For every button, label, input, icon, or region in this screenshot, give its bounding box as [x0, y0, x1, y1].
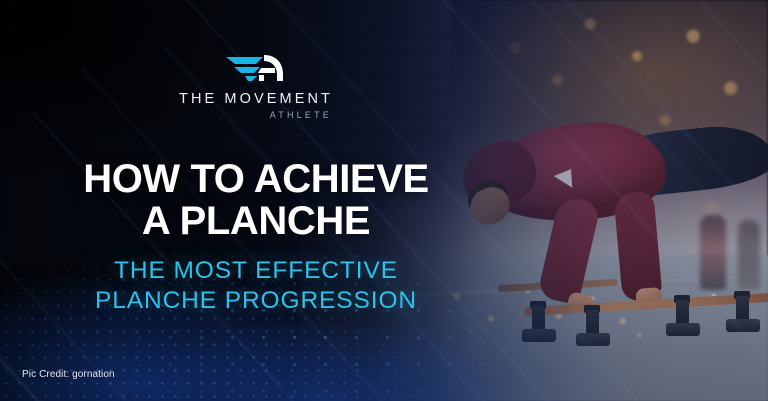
headline-line-1: HOW TO ACHIEVE	[0, 158, 512, 200]
subheadline-block: THE MOST EFFECTIVE PLANCHE PROGRESSION	[0, 256, 512, 317]
brand-logo[interactable]: THE MOVEMENT ATHLETE	[0, 48, 512, 120]
photo-credit: Pic Credit: gornation	[22, 369, 115, 380]
movement-athlete-wing-mark-icon	[223, 48, 289, 86]
subheadline-line-1: THE MOST EFFECTIVE	[0, 256, 512, 286]
brand-subname: ATHLETE	[270, 111, 332, 120]
hero-text-block: HOW TO ACHIEVE A PLANCHE THE MOST EFFECT…	[0, 158, 512, 317]
blog-hero-banner: THE MOVEMENT ATHLETE HOW TO ACHIEVE A PL…	[0, 0, 768, 401]
brand-name: THE MOVEMENT	[179, 92, 333, 107]
headline-line-2: A PLANCHE	[0, 200, 512, 242]
brand-wordmark: THE MOVEMENT ATHLETE	[179, 92, 333, 120]
subheadline-line-2: PLANCHE PROGRESSION	[0, 286, 512, 316]
